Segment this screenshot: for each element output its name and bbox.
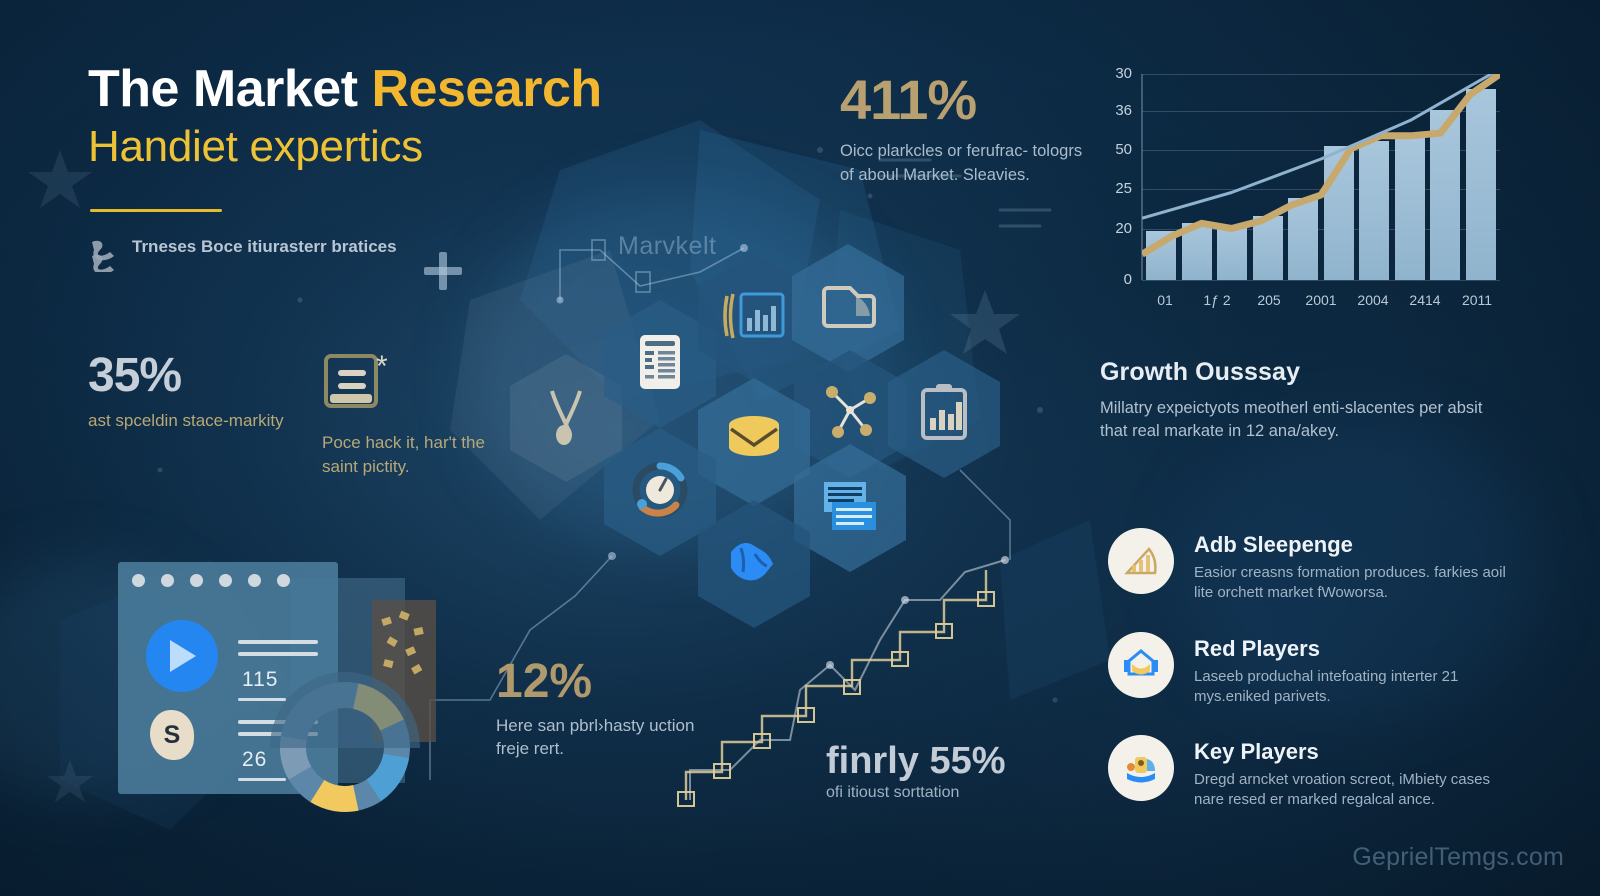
- chart-y-tick: 36: [1115, 102, 1132, 119]
- chart-plot-area: 30365025200: [1142, 74, 1500, 280]
- chart-y-tick: 30: [1115, 65, 1132, 82]
- chart-y-tick: 20: [1115, 220, 1132, 237]
- documents-stack-icon: [820, 478, 880, 539]
- feature-body: Dregd arncket vroation screot, iMbiety c…: [1194, 770, 1508, 811]
- chart-x-tick: 1ƒ 2: [1195, 292, 1239, 308]
- feature-body: Easior creasns formation produces. farki…: [1194, 563, 1508, 604]
- title-part-two: Research: [371, 60, 601, 118]
- home-shield-icon: [1108, 632, 1174, 698]
- stat-12-caption: Here san pbrl›hasty uction frеje rert.: [496, 714, 726, 761]
- chart-x-tick: 2004: [1351, 292, 1395, 308]
- chart-x-tick-labels: 011ƒ 22052001200424142011: [1142, 292, 1500, 308]
- gold-bar-chart-icon: [1108, 528, 1174, 594]
- list-item[interactable]: Key Players Dregd arncket vroation screo…: [1108, 735, 1508, 811]
- feature-list: Adb Sleepenge Easior creasns formation p…: [1108, 528, 1508, 839]
- page-title: The Market Research Handiet expertics: [88, 62, 768, 171]
- clipboard-chart-icon: [917, 382, 971, 447]
- feature-title: Red Players: [1194, 636, 1508, 662]
- infographic-canvas: The Market Research Handiet expertics Tr…: [0, 0, 1600, 896]
- chart-gridline: 0: [1142, 280, 1500, 281]
- svg-text:*: *: [376, 350, 388, 383]
- network-nodes-icon: [820, 382, 880, 447]
- stat-411-caption: Oicc plarkcles or ferufrac- tologrs of a…: [840, 140, 1090, 188]
- plus-icon: [420, 248, 466, 294]
- chart-y-tick: 0: [1124, 271, 1132, 288]
- database-icon: [723, 413, 785, 472]
- chart-y-tick: 25: [1115, 181, 1132, 198]
- growth-summary: Growth Ousssay Millatry expeictyots meot…: [1100, 358, 1500, 444]
- window-dots: [132, 574, 290, 587]
- chart-y-tick: 50: [1115, 141, 1132, 158]
- background-word: Marvkelt: [618, 232, 716, 261]
- stat-35-caption: ast spceldin stace-markity: [88, 410, 328, 432]
- title-part-one: The Market: [88, 60, 371, 118]
- growth-body: Millatry expeictyots meotherl enti-slace…: [1100, 397, 1500, 444]
- badge-letter-icon: S: [150, 710, 194, 760]
- left-note-caption: Poce hack it, har't the saint pictity.: [322, 431, 492, 479]
- stat-411-value: 411%: [840, 72, 1090, 128]
- gauge-speedometer-icon: [630, 460, 690, 525]
- stat-12-block: 12% Here san pbrl›hasty uction frеje rer…: [496, 658, 726, 761]
- title-divider: [90, 209, 222, 212]
- lede-block: Trneses Boce itiurasterr bratices: [88, 236, 418, 277]
- growth-heading: Growth Ousssay: [1100, 358, 1500, 387]
- hexagon-cluster: [508, 268, 968, 628]
- handshake-icon: [725, 534, 783, 595]
- scissors-icon: [538, 385, 594, 452]
- key-lock-icon: [1108, 735, 1174, 801]
- stat-35-block: 35% ast spceldin stace-markity: [88, 352, 328, 432]
- device-line-2: [238, 652, 318, 656]
- list-item[interactable]: Adb Sleepenge Easior creasns formation p…: [1108, 528, 1508, 604]
- chart-x-tick: 2011: [1455, 292, 1499, 308]
- stat-55-block: finrly 55% ofi itioust sorttation: [826, 742, 1066, 802]
- chart-x-tick: 2001: [1299, 292, 1343, 308]
- feature-body: Laseeb produchal intefoating interter 21…: [1194, 667, 1508, 708]
- chart-trend-lines: [1142, 74, 1500, 280]
- feature-title: Key Players: [1194, 739, 1508, 765]
- stat-35-value: 35%: [88, 352, 328, 400]
- stat-12-value: 12%: [496, 658, 726, 706]
- document-star-icon: *: [322, 399, 400, 416]
- left-note-block: * Poce hack it, har't the saint pictity.: [322, 350, 492, 479]
- chart-x-tick: 01: [1143, 292, 1187, 308]
- device-metric-2: 26: [242, 748, 267, 772]
- play-triangle: [170, 640, 196, 672]
- stat-411-block: 411% Oicc plarkcles or ferufrac- tologrs…: [840, 72, 1090, 188]
- ribbon-glyph-icon: [88, 238, 118, 277]
- server-rack-icon: [636, 333, 684, 396]
- stat-55-caption: ofi itioust sorttation: [826, 784, 1066, 802]
- folder-icon: [820, 278, 876, 339]
- list-item[interactable]: Red Players Laseeb produchal intefoating…: [1108, 632, 1508, 708]
- watermark: GeprielTemgs.com: [1352, 843, 1564, 872]
- chart-x-tick: 2414: [1403, 292, 1447, 308]
- lede-text: Trneses Boce itiurasterr bratices: [132, 236, 397, 259]
- hex-tile-documents[interactable]: [794, 444, 906, 572]
- chart-x-tick: 205: [1247, 292, 1291, 308]
- device-line-1: [238, 640, 318, 644]
- stat-55-value: finrly 55%: [826, 742, 1066, 780]
- page-subtitle: Handiet expertics: [88, 123, 768, 171]
- document-bar-chart-icon: [721, 288, 787, 349]
- feature-title: Adb Sleepenge: [1194, 532, 1508, 558]
- growth-bar-chart: 30365025200 011ƒ 22052001200424142011: [1096, 64, 1508, 314]
